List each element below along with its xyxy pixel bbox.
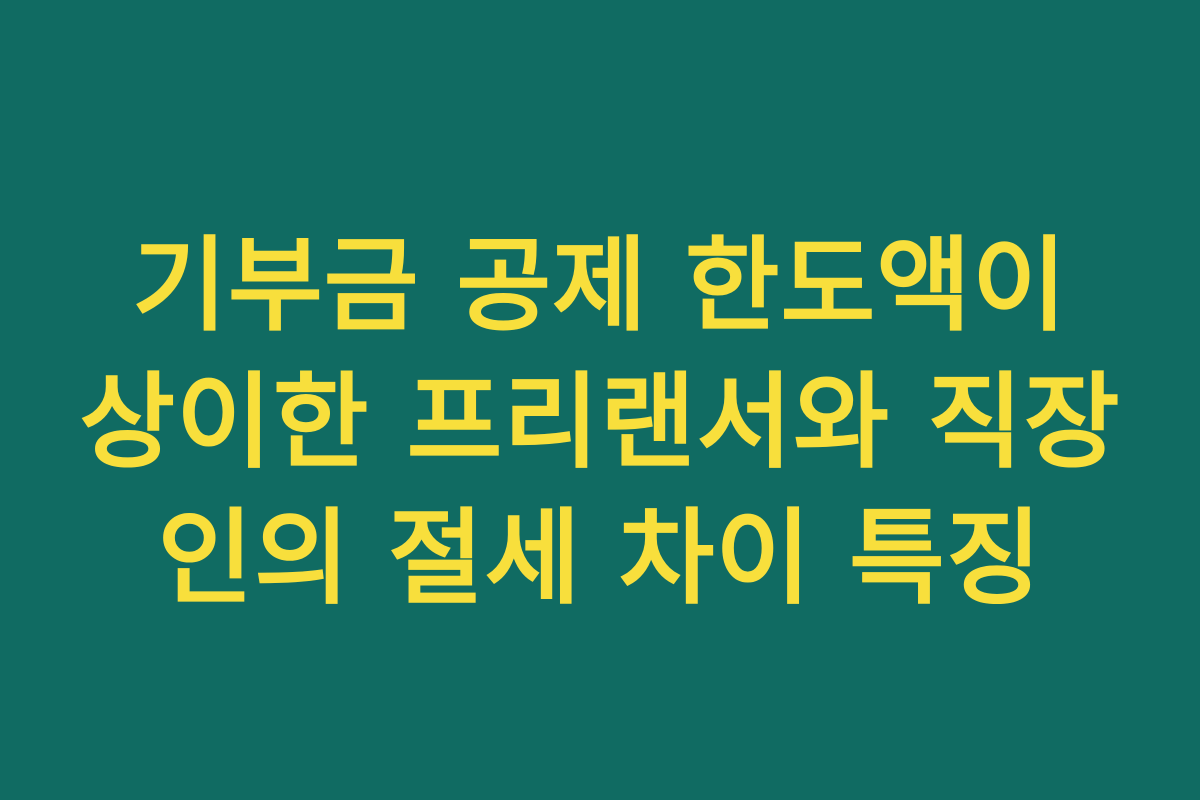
title-banner: 기부금 공제 한도액이 상이한 프리랜서와 직장 인의 절세 차이 특징 (0, 0, 1200, 800)
page-title: 기부금 공제 한도액이 상이한 프리랜서와 직장 인의 절세 차이 특징 (70, 218, 1130, 626)
title-line-2: 상이한 프리랜서와 직장 (79, 354, 1120, 490)
title-line-1: 기부금 공제 한도액이 (132, 218, 1068, 354)
title-line-3: 인의 절세 차이 특징 (157, 490, 1042, 626)
